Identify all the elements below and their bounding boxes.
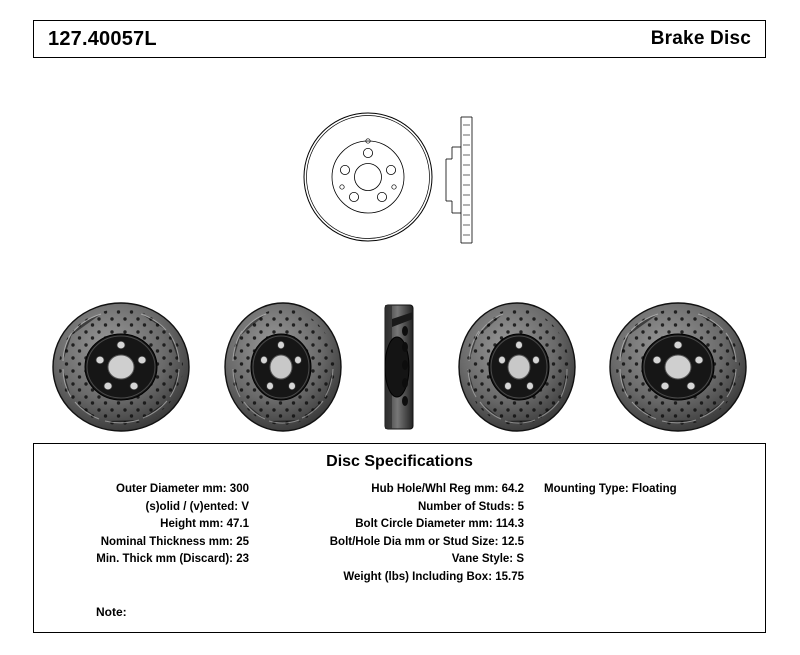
spec-solid-vented: (s)olid / (v)ented: V — [34, 499, 249, 517]
rotor-face-and-edge-drawing — [300, 95, 520, 280]
spec-column-right: Mounting Type: Floating — [544, 481, 759, 499]
rotor-views — [33, 300, 766, 435]
rotor-view-left — [53, 303, 189, 431]
spec-column-middle: Hub Hole/Whl Reg mm: 64.2 Number of Stud… — [259, 481, 524, 586]
spec-vane-style: Vane Style: S — [259, 551, 524, 569]
spec-hub-hole: Hub Hole/Whl Reg mm: 64.2 — [259, 481, 524, 499]
specifications-title: Disc Specifications — [34, 453, 765, 471]
spec-min-thickness: Min. Thick mm (Discard): 23 — [34, 551, 249, 569]
rotor-view-right — [610, 303, 746, 431]
header-bar: 127.40057L Brake Disc — [33, 20, 766, 58]
spec-column-left: Outer Diameter mm: 300 (s)olid / (v)ente… — [34, 481, 249, 569]
spec-weight: Weight (lbs) Including Box: 15.75 — [259, 569, 524, 587]
spec-bolt-hole-dia: Bolt/Hole Dia mm or Stud Size: 12.5 — [259, 534, 524, 552]
rotor-view-edge — [385, 305, 413, 429]
brake-disc-spec-sheet: 127.40057L Brake Disc — [0, 0, 800, 655]
spec-nominal-thickness: Nominal Thickness mm: 25 — [34, 534, 249, 552]
spec-height: Height mm: 47.1 — [34, 516, 249, 534]
rotor-view-right-angled — [459, 303, 575, 431]
document-type-label: Brake Disc — [651, 28, 751, 50]
rotor-photo-row — [33, 300, 766, 435]
rotor-view-left-angled — [225, 303, 341, 431]
spec-bolt-circle-diameter: Bolt Circle Diameter mm: 114.3 — [259, 516, 524, 534]
spec-number-of-studs: Number of Studs: 5 — [259, 499, 524, 517]
spec-mounting-type: Mounting Type: Floating — [544, 481, 759, 499]
disc-specifications-panel: Disc Specifications Outer Diameter mm: 3… — [33, 443, 766, 633]
spec-outer-diameter: Outer Diameter mm: 300 — [34, 481, 249, 499]
note-label: Note: — [96, 605, 127, 619]
top-line-drawing — [300, 95, 520, 280]
specifications-columns: Outer Diameter mm: 300 (s)olid / (v)ente… — [34, 481, 765, 601]
part-number: 127.40057L — [48, 28, 157, 51]
